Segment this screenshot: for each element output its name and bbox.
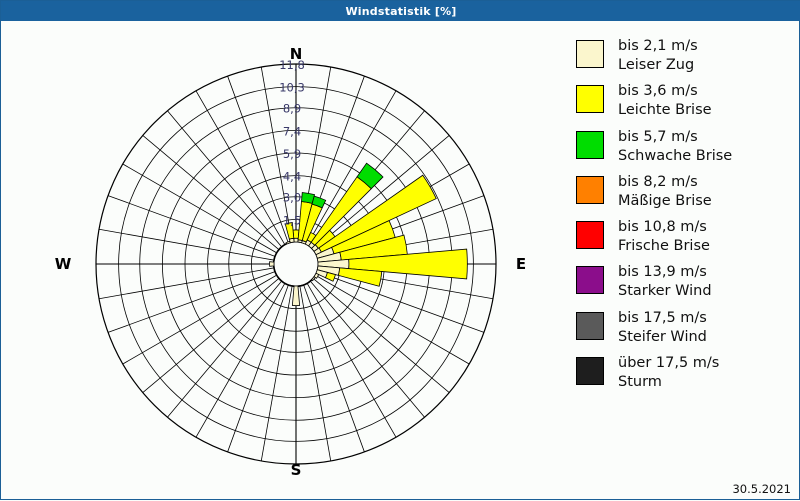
window-title: Windstatistik [%] [345, 5, 456, 18]
radial-tick-label: 4,4 [283, 170, 301, 184]
legend-name: Steifer Wind [618, 328, 707, 347]
windrose-sector [273, 258, 274, 262]
compass-label-south: S [266, 461, 326, 479]
legend-name: Leiser Zug [618, 56, 698, 75]
legend-name: Leichte Brise [618, 101, 712, 120]
windrose-sector [273, 266, 274, 270]
color-swatch [576, 266, 604, 294]
color-swatch [576, 357, 604, 385]
legend-name: Frische Brise [618, 237, 710, 256]
radial-tick-labels: 1,53,04,45,97,48,910,311,8 [279, 58, 305, 227]
radial-tick-label: 1,5 [283, 213, 301, 227]
windrose-sector [292, 286, 299, 306]
windrose-sector [290, 285, 294, 286]
color-swatch [576, 312, 604, 340]
windrose-svg: 1,53,04,45,97,48,910,311,8 [1, 21, 561, 501]
windrose-sector [302, 284, 306, 286]
legend-name: Mäßige Brise [618, 192, 712, 211]
windrose-plot: 1,53,04,45,97,48,910,311,8 N E S W [1, 21, 561, 501]
legend-speed: bis 5,7 m/s [618, 129, 698, 145]
color-swatch [576, 131, 604, 159]
compass-label-east: E [501, 255, 541, 273]
compass-label-west: W [43, 255, 83, 273]
legend: bis 2,1 m/sLeiser Zugbis 3,6 m/sLeichte … [576, 37, 796, 399]
legend-speed: bis 13,9 m/s [618, 264, 707, 280]
window-title-bar: Windstatistik [%] [1, 1, 800, 21]
radial-tick-label: 3,0 [283, 191, 301, 205]
legend-item: bis 13,9 m/sStarker Wind [576, 263, 796, 301]
color-swatch [576, 40, 604, 68]
legend-label: bis 2,1 m/sLeiser Zug [618, 37, 698, 75]
legend-speed: bis 10,8 m/s [618, 219, 707, 235]
legend-name: Starker Wind [618, 282, 712, 301]
legend-item: bis 2,1 m/sLeiser Zug [576, 37, 796, 75]
legend-label: bis 13,9 m/sStarker Wind [618, 263, 712, 301]
date-stamp: 30.5.2021 [732, 482, 791, 496]
legend-label: bis 5,7 m/sSchwache Brise [618, 128, 732, 166]
legend-item: bis 3,6 m/sLeichte Brise [576, 82, 796, 120]
windrose-sector [298, 285, 302, 286]
legend-speed: über 17,5 m/s [618, 355, 719, 371]
color-swatch [576, 85, 604, 113]
radial-tick-label: 7,4 [283, 124, 301, 138]
radial-tick-label: 10,3 [279, 81, 305, 95]
legend-label: bis 17,5 m/sSteifer Wind [618, 309, 707, 347]
legend-name: Schwache Brise [618, 147, 732, 166]
color-swatch [576, 176, 604, 204]
legend-speed: bis 17,5 m/s [618, 310, 707, 326]
radial-tick-label: 8,9 [283, 102, 301, 116]
legend-item: bis 8,2 m/sMäßige Brise [576, 173, 796, 211]
color-swatch [576, 221, 604, 249]
legend-speed: bis 8,2 m/s [618, 174, 698, 190]
legend-label: bis 10,8 m/sFrische Brise [618, 218, 710, 256]
legend-speed: bis 2,1 m/s [618, 38, 698, 54]
legend-name: Sturm [618, 373, 719, 392]
legend-label: bis 3,6 m/sLeichte Brise [618, 82, 712, 120]
radial-tick-label: 5,9 [283, 147, 301, 161]
legend-label: bis 8,2 m/sMäßige Brise [618, 173, 712, 211]
legend-item: bis 5,7 m/sSchwache Brise [576, 128, 796, 166]
legend-item: bis 10,8 m/sFrische Brise [576, 218, 796, 256]
windrose-sectors [269, 163, 467, 305]
windrose-window: Windstatistik [%] 1,53,04,45,97,48,910,3… [0, 0, 800, 500]
compass-label-north: N [266, 45, 326, 63]
legend-item: bis 17,5 m/sSteifer Wind [576, 309, 796, 347]
windrose-sector [274, 270, 276, 274]
legend-speed: bis 3,6 m/s [618, 83, 698, 99]
legend-item: über 17,5 m/sSturm [576, 354, 796, 392]
legend-label: über 17,5 m/sSturm [618, 354, 719, 392]
